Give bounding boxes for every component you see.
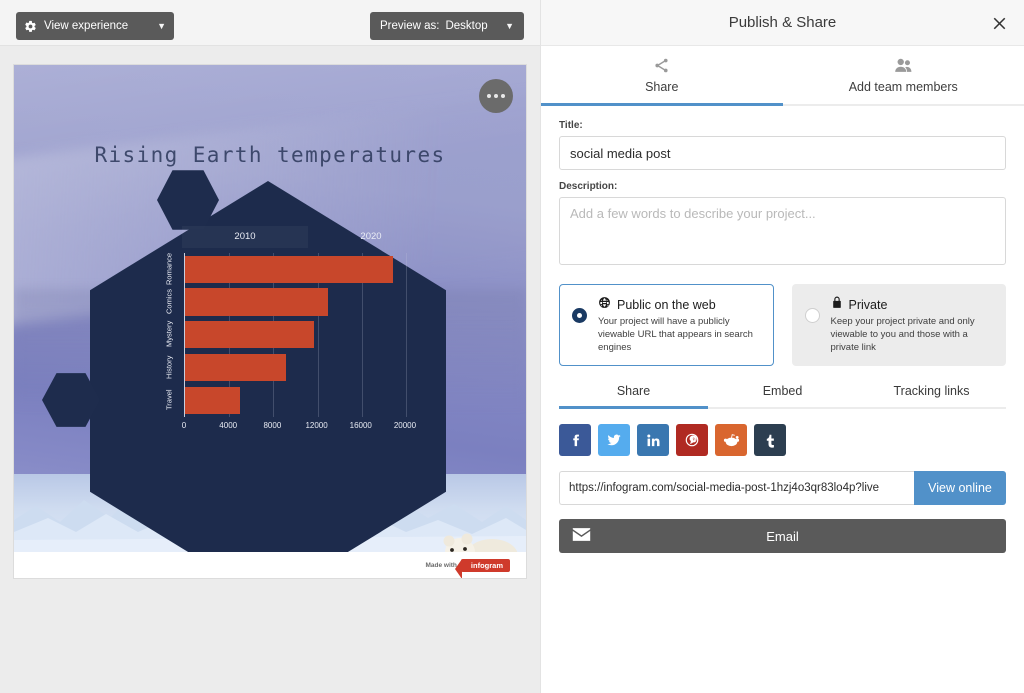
chart-x-tick-label: 20000 [394, 421, 416, 430]
title-field-label: Title: [559, 120, 1006, 131]
infogram-brand-tag: infogram [461, 559, 510, 572]
reddit-share-button[interactable] [715, 424, 747, 456]
chart-bar[interactable] [185, 288, 328, 315]
panel-title: Publish & Share [729, 14, 837, 31]
slide-canvas: Rising Earth temperatures 2010 2020 Roma… [14, 65, 526, 552]
privacy-private-description: Keep your project private and only viewa… [831, 316, 994, 354]
description-field-label: Description: [559, 181, 1006, 192]
app-root: View experience ▼ Preview as: Desktop ▼ [0, 0, 1024, 693]
chart-bar[interactable] [185, 387, 240, 414]
ellipsis-icon[interactable] [479, 79, 513, 113]
chart-bar-row[interactable]: Comics [185, 288, 417, 315]
panel-body: Title: Description: Pu [541, 106, 1024, 553]
chart-category-label: Comics [156, 288, 182, 314]
chart-tab-2020[interactable]: 2020 [308, 226, 434, 248]
chart-x-axis: 040008000120001600020000 [164, 421, 434, 435]
panel-header: Publish & Share [541, 0, 1024, 46]
tab-share[interactable]: Share [541, 46, 783, 104]
editor-pane: View experience ▼ Preview as: Desktop ▼ [0, 0, 540, 693]
editor-toolbar: View experience ▼ Preview as: Desktop ▼ [0, 0, 540, 46]
panel-tabs[interactable]: Share Add team members [541, 46, 1024, 106]
privacy-public-title: Public on the web [617, 298, 716, 312]
chart-bar[interactable] [185, 256, 393, 283]
chart-bar-row[interactable]: Mystery [185, 321, 417, 348]
chart-plot-area: RomanceComicsMysteryHistoryTravel [184, 253, 416, 417]
chart-bar[interactable] [185, 354, 286, 381]
chevron-down-icon: ▼ [505, 21, 514, 31]
social-share-buttons[interactable] [559, 424, 1006, 456]
tumblr-share-button[interactable] [754, 424, 786, 456]
chart-category-label: Mystery [156, 321, 182, 347]
share-method-tabs[interactable]: Share Embed Tracking links [559, 384, 1006, 409]
share-url-input[interactable] [559, 471, 914, 505]
infogram-badge[interactable]: Made with infogram [14, 552, 526, 578]
chart-category-label: Travel [156, 387, 182, 413]
view-experience-label: View experience [44, 20, 151, 32]
preview-as-dropdown[interactable]: Preview as: Desktop ▼ [370, 12, 524, 40]
share-icon [653, 57, 670, 75]
chart-x-tick-label: 8000 [263, 421, 281, 430]
privacy-option-public[interactable]: Public on the web Your project will have… [559, 284, 774, 366]
bar-chart[interactable]: 2010 2020 RomanceComicsMysteryHistoryTra… [164, 226, 434, 450]
preview-as-value: Desktop [445, 20, 499, 32]
pinterest-share-button[interactable] [676, 424, 708, 456]
chevron-down-icon: ▼ [157, 21, 166, 31]
chart-plot: RomanceComicsMysteryHistoryTravel 040008… [164, 253, 434, 433]
tab-share-label: Share [645, 80, 678, 94]
privacy-options: Public on the web Your project will have… [559, 284, 1006, 366]
chart-category-label: History [156, 354, 182, 380]
share-tab-embed[interactable]: Embed [708, 384, 857, 407]
email-button[interactable]: Email [559, 519, 1006, 553]
linkedin-share-button[interactable] [637, 424, 669, 456]
chart-year-tabs[interactable]: 2010 2020 [182, 226, 434, 248]
radio-public[interactable] [572, 308, 587, 323]
twitter-share-button[interactable] [598, 424, 630, 456]
privacy-public-description: Your project will have a publicly viewab… [598, 316, 761, 354]
email-button-label: Email [766, 529, 799, 544]
chart-category-label: Romance [156, 256, 182, 282]
share-tab-tracking-links[interactable]: Tracking links [857, 384, 1006, 407]
chart-bar[interactable] [185, 321, 314, 348]
envelope-icon [572, 527, 591, 545]
chart-bar-row[interactable]: Travel [185, 387, 417, 414]
chart-tab-2010[interactable]: 2010 [182, 226, 308, 248]
preview-as-label: Preview as: [380, 20, 439, 32]
radio-private[interactable] [805, 308, 820, 323]
tab-add-team-members[interactable]: Add team members [783, 46, 1024, 104]
privacy-private-title: Private [849, 298, 888, 312]
chart-bar-row[interactable]: History [185, 354, 417, 381]
close-icon[interactable] [988, 12, 1010, 34]
facebook-share-button[interactable] [559, 424, 591, 456]
view-experience-button[interactable]: View experience ▼ [16, 12, 174, 40]
share-url-row: View online [559, 471, 1006, 505]
publish-share-panel: Publish & Share Share [540, 0, 1024, 693]
privacy-option-private[interactable]: Private Keep your project private and on… [792, 284, 1007, 366]
lock-icon [831, 296, 843, 314]
chart-bar-row[interactable]: Romance [185, 256, 417, 283]
chart-x-tick-label: 12000 [305, 421, 327, 430]
slide-preview[interactable]: Rising Earth temperatures 2010 2020 Roma… [14, 65, 526, 578]
project-title-input[interactable] [559, 136, 1006, 170]
polar-bear-image [434, 520, 526, 552]
made-with-label: Made with [425, 562, 456, 569]
chart-x-tick-label: 4000 [219, 421, 237, 430]
people-icon [894, 57, 913, 75]
chart-x-tick-label: 16000 [350, 421, 372, 430]
tab-add-team-members-label: Add team members [849, 80, 958, 94]
chart-x-tick-label: 0 [182, 421, 186, 430]
project-description-textarea[interactable] [559, 197, 1006, 265]
gear-icon [24, 20, 37, 33]
share-tab-share[interactable]: Share [559, 384, 708, 407]
slide-title: Rising Earth temperatures [14, 143, 526, 167]
view-online-button[interactable]: View online [914, 471, 1006, 505]
globe-icon [598, 296, 611, 314]
